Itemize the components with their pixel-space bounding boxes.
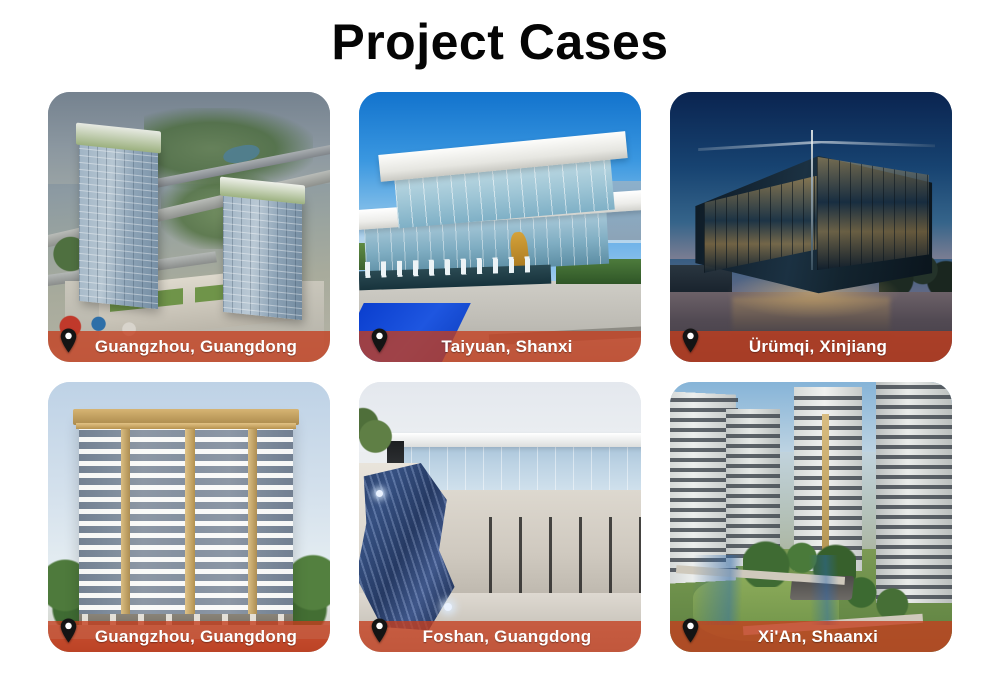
location-bar: Foshan, Guangdong — [359, 621, 641, 652]
map-pin-icon — [60, 328, 77, 353]
project-photo-taiyuan-pavilion — [359, 92, 641, 362]
page-title: Project Cases — [0, 12, 1000, 72]
map-pin-icon — [371, 618, 388, 643]
project-cases-grid: Guangzhou, Guangdong Taiyuan, Shanxi — [48, 92, 952, 654]
location-label: Guangzhou, Guangdong — [81, 627, 297, 647]
project-photo-guangzhou-office-towers — [48, 92, 330, 362]
map-pin-icon — [371, 328, 388, 353]
project-photo-guangzhou-residential-slab — [48, 382, 330, 652]
location-bar: Guangzhou, Guangdong — [48, 621, 330, 652]
project-photo-xian-residential-complex — [670, 382, 952, 652]
location-bar: Guangzhou, Guangdong — [48, 331, 330, 362]
project-card-foshan-guangdong[interactable]: Foshan, Guangdong — [359, 382, 641, 652]
project-cases-page: Project Cases Guangzhou, Guangdong — [0, 0, 1000, 686]
project-card-urumqi-xinjiang[interactable]: Ürümqi, Xinjiang — [670, 92, 952, 362]
project-photo-urumqi-glass-building — [670, 92, 952, 362]
location-label: Ürümqi, Xinjiang — [735, 337, 887, 357]
location-label: Guangzhou, Guangdong — [81, 337, 297, 357]
project-card-guangzhou-guangdong-1[interactable]: Guangzhou, Guangdong — [48, 92, 330, 362]
project-photo-foshan-sculpture — [359, 382, 641, 652]
map-pin-icon — [60, 618, 77, 643]
location-label: Xi'An, Shaanxi — [744, 627, 878, 647]
location-bar: Ürümqi, Xinjiang — [670, 331, 952, 362]
project-card-xian-shaanxi[interactable]: Xi'An, Shaanxi — [670, 382, 952, 652]
project-card-guangzhou-guangdong-2[interactable]: Guangzhou, Guangdong — [48, 382, 330, 652]
location-label: Taiyuan, Shanxi — [427, 337, 572, 357]
map-pin-icon — [682, 328, 699, 353]
location-bar: Xi'An, Shaanxi — [670, 621, 952, 652]
location-label: Foshan, Guangdong — [409, 627, 592, 647]
project-card-taiyuan-shanxi[interactable]: Taiyuan, Shanxi — [359, 92, 641, 362]
location-bar: Taiyuan, Shanxi — [359, 331, 641, 362]
map-pin-icon — [682, 618, 699, 643]
